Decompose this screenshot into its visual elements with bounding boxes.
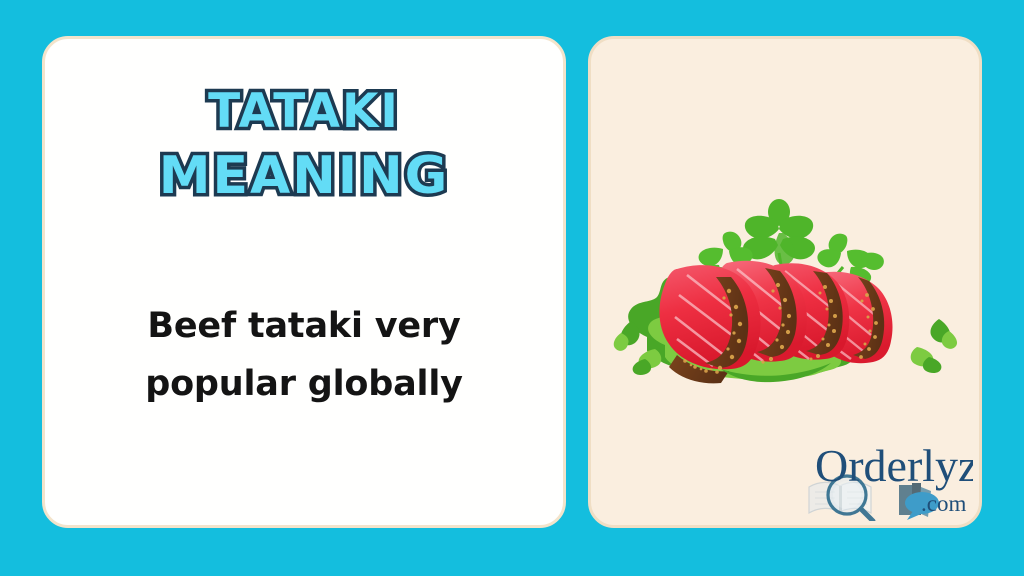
logo-tld-text: .com	[921, 491, 966, 516]
page-title-line-2: MEANING	[45, 143, 563, 209]
page-title-line-1: TATAKI	[45, 81, 563, 143]
orderlyz-logo[interactable]: Orderlyz .com	[795, 437, 973, 521]
image-card: Orderlyz .com	[588, 36, 982, 528]
poster-canvas: TATAKI MEANING Beef tataki very popular …	[0, 0, 1024, 576]
title-block: TATAKI MEANING	[45, 81, 563, 209]
text-card: TATAKI MEANING Beef tataki very popular …	[42, 36, 566, 528]
body-text-line-1: Beef tataki very	[91, 297, 517, 355]
body-text-line-2: popular globally	[91, 355, 517, 413]
body-text-block: Beef tataki very popular globally	[91, 297, 517, 413]
beef-tataki-illustration	[599, 169, 971, 399]
logo-brand-text: Orderlyz	[815, 440, 973, 491]
